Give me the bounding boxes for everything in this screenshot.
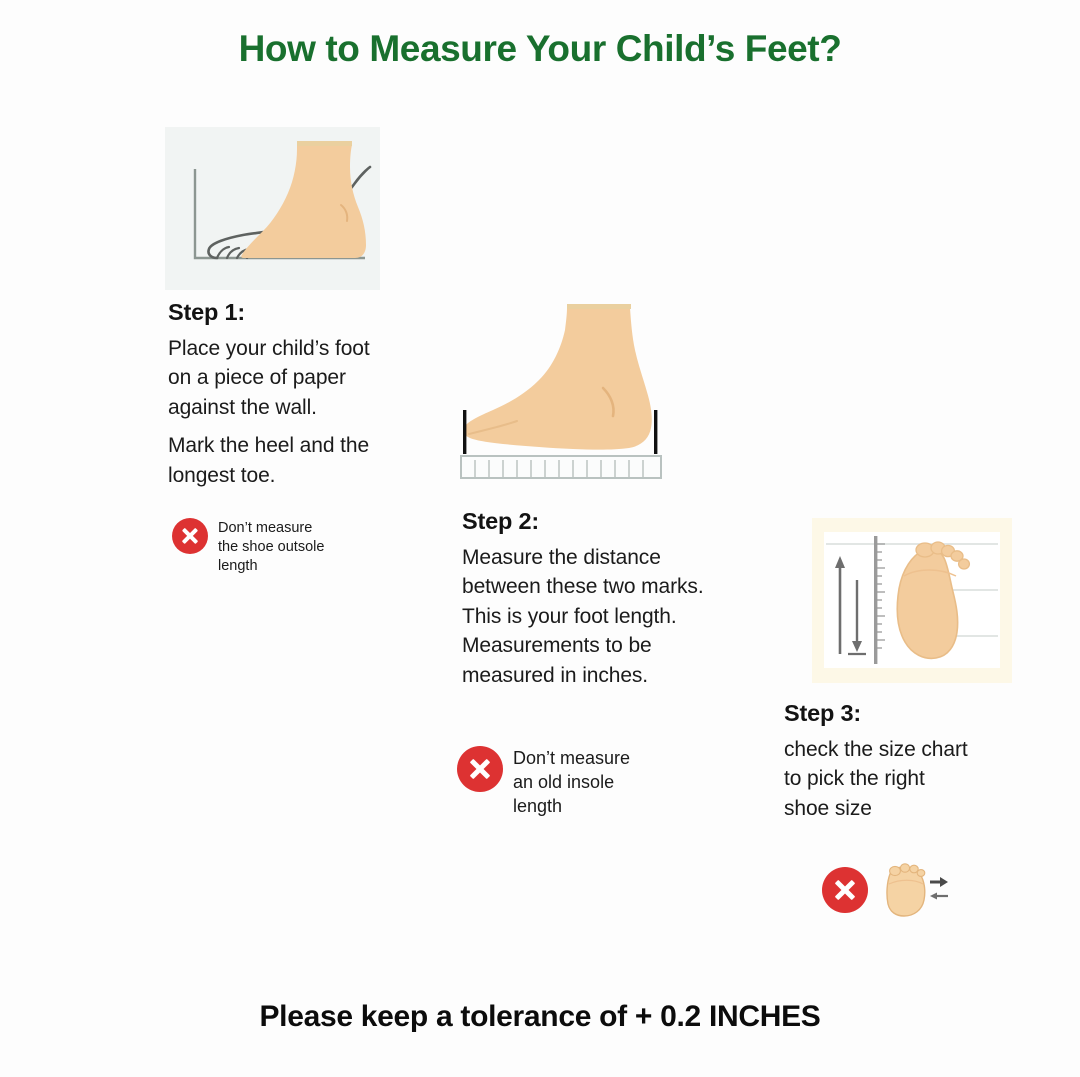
step2-warning-line-3: length xyxy=(513,795,630,819)
step1-line-3: against the wall. xyxy=(168,393,418,422)
step2-body: Measure the distance between these two m… xyxy=(462,543,782,690)
step2-line-1: Measure the distance xyxy=(462,543,782,572)
step1-text-block: Step 1: Place your child’s foot on a pie… xyxy=(168,299,418,490)
step2-line-3: This is your foot length. xyxy=(462,602,782,631)
step3-line-3: shoe size xyxy=(784,794,1034,823)
step3-text-block: Step 3: check the size chart to pick the… xyxy=(784,700,1034,823)
foot-against-wall-illustration xyxy=(165,127,380,290)
step3-body: check the size chart to pick the right s… xyxy=(784,735,1034,823)
step2-warning-text: Don’t measure an old insole length xyxy=(513,746,630,819)
step2-line-5: measured in inches. xyxy=(462,661,782,690)
step1-warning-line-3: length xyxy=(218,557,324,576)
step2-warning: Don’t measure an old insole length xyxy=(457,746,672,819)
step1-line-1: Place your child’s foot xyxy=(168,334,418,363)
tolerance-note: Please keep a tolerance of + 0.2 INCHES xyxy=(0,1000,1080,1034)
step1-heading: Step 1: xyxy=(168,299,418,326)
step2-warning-line-2: an old insole xyxy=(513,771,630,795)
page-title: How to Measure Your Child’s Feet? xyxy=(0,28,1080,70)
step1-line-5: longest toe. xyxy=(168,461,418,490)
step3-warning xyxy=(822,862,982,918)
step3-line-1: check the size chart xyxy=(784,735,1034,764)
step2-warning-line-1: Don’t measure xyxy=(513,747,630,771)
foot-with-ruler-illustration xyxy=(455,300,690,485)
foot-top-view-with-arrows-icon xyxy=(882,862,950,918)
heel-mark xyxy=(654,410,657,454)
step1-line-4: Mark the heel and the xyxy=(168,431,418,460)
step3-heading: Step 3: xyxy=(784,700,1034,727)
step3-line-2: to pick the right xyxy=(784,764,1034,793)
step1-warning: Don’t measure the shoe outsole length xyxy=(172,518,362,576)
red-x-circle-icon xyxy=(172,518,208,554)
step3-illustration xyxy=(812,518,1012,683)
step2-text-block: Step 2: Measure the distance between the… xyxy=(462,508,782,690)
infographic-page: How to Measure Your Child’s Feet? Step 1… xyxy=(0,0,1080,1077)
step1-illustration xyxy=(165,127,380,290)
step1-line-2: on a piece of paper xyxy=(168,363,418,392)
red-x-circle-icon xyxy=(457,746,503,792)
step2-heading: Step 2: xyxy=(462,508,782,535)
foot-sole-size-chart-illustration xyxy=(812,518,1012,683)
step2-line-4: Measurements to be xyxy=(462,631,782,660)
step1-warning-line-1: Don’t measure xyxy=(218,519,324,538)
step2-line-2: between these two marks. xyxy=(462,572,782,601)
step1-warning-text: Don’t measure the shoe outsole length xyxy=(218,518,324,576)
red-x-circle-icon xyxy=(822,867,868,913)
step1-warning-line-2: the shoe outsole xyxy=(218,538,324,557)
toe-mark xyxy=(463,410,466,454)
step1-body: Place your child’s foot on a piece of pa… xyxy=(168,334,418,490)
step2-illustration xyxy=(455,300,690,485)
